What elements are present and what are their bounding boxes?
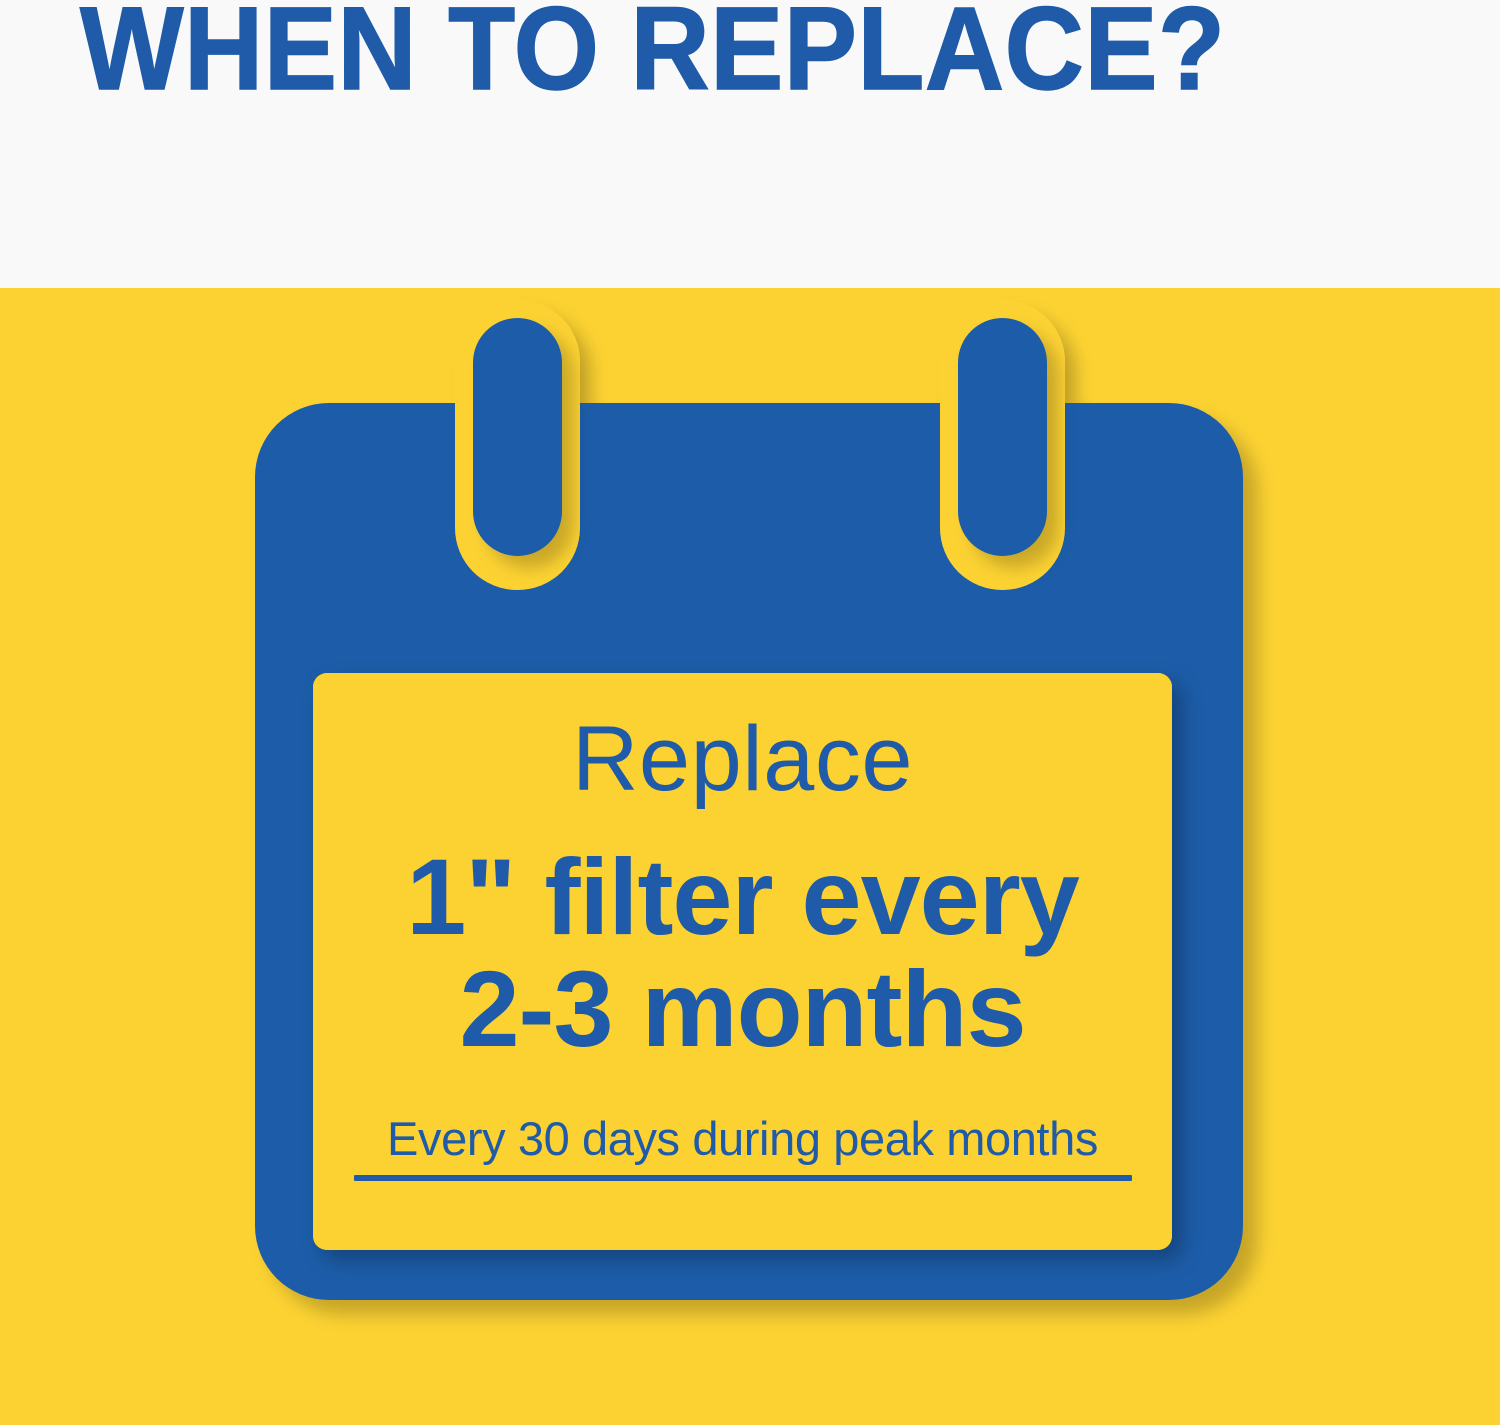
interval-line-2: 2-3 months <box>406 953 1079 1065</box>
peak-months-underline <box>354 1175 1132 1181</box>
replacement-interval: 1" filter every 2-3 months <box>406 841 1079 1065</box>
peak-months-note: Every 30 days during peak months <box>387 1113 1098 1165</box>
page-title: WHEN TO REPLACE? <box>80 0 1226 108</box>
infographic-canvas: WHEN TO REPLACE? <box>0 0 1500 1425</box>
header-band: WHEN TO REPLACE? <box>0 0 1500 288</box>
calendar-page-text: Replace 1" filter every 2-3 months Every… <box>313 673 1172 1250</box>
peak-months-note-group: Every 30 days during peak months <box>313 1113 1172 1181</box>
replace-heading: Replace <box>572 711 913 807</box>
interval-line-1: 1" filter every <box>406 841 1079 953</box>
